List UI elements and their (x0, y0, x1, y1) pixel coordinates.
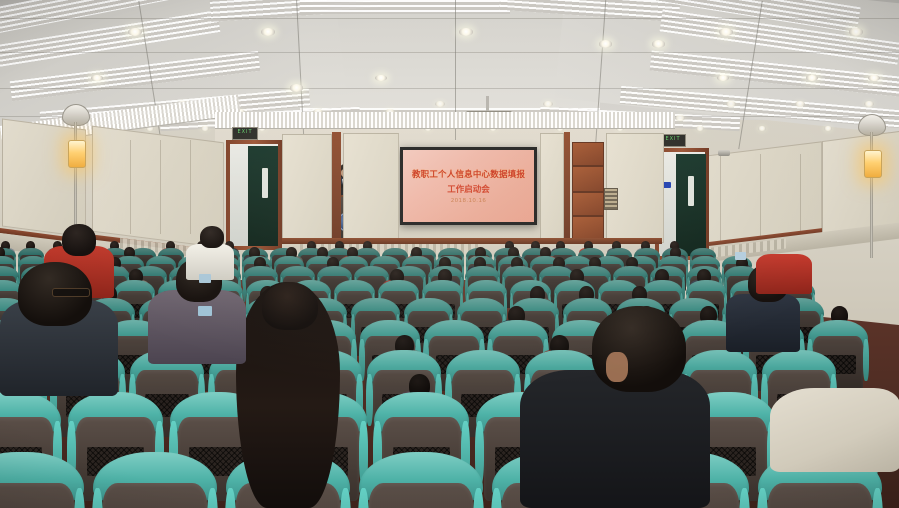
man-suit-torso (726, 294, 800, 352)
man-black-polo-ear-neck (606, 352, 628, 382)
eyeglasses-icon (52, 288, 90, 297)
seat-back-shell (0, 483, 74, 508)
audience-phone-screen (735, 252, 746, 260)
man-red-shirt-torso (756, 254, 812, 294)
auditorium-photo: 教职工个人信息中心数据填报 工作启动会 2018.10.16 EXITEXIT (0, 0, 899, 508)
man-red-jacket-head (62, 224, 96, 256)
seat-back-shell (369, 483, 473, 508)
auditorium-seat (93, 452, 217, 508)
man-black-polo-head (592, 306, 686, 392)
seating-layer (0, 0, 899, 508)
woman-head-foreground (262, 282, 318, 330)
audience-phone-screen (198, 306, 212, 316)
seat-back-shell (103, 483, 207, 508)
auditorium-seat (359, 452, 483, 508)
audience-phone-screen (199, 274, 211, 283)
seat-side-fabric (366, 374, 373, 426)
man-black-polo-torso (520, 370, 710, 508)
beige-coat-foreground (770, 388, 899, 472)
auditorium-seat (0, 452, 84, 508)
man-white-shirt-head (200, 226, 224, 248)
seat-side-fabric (863, 339, 868, 381)
seat-back-shell (768, 483, 872, 508)
